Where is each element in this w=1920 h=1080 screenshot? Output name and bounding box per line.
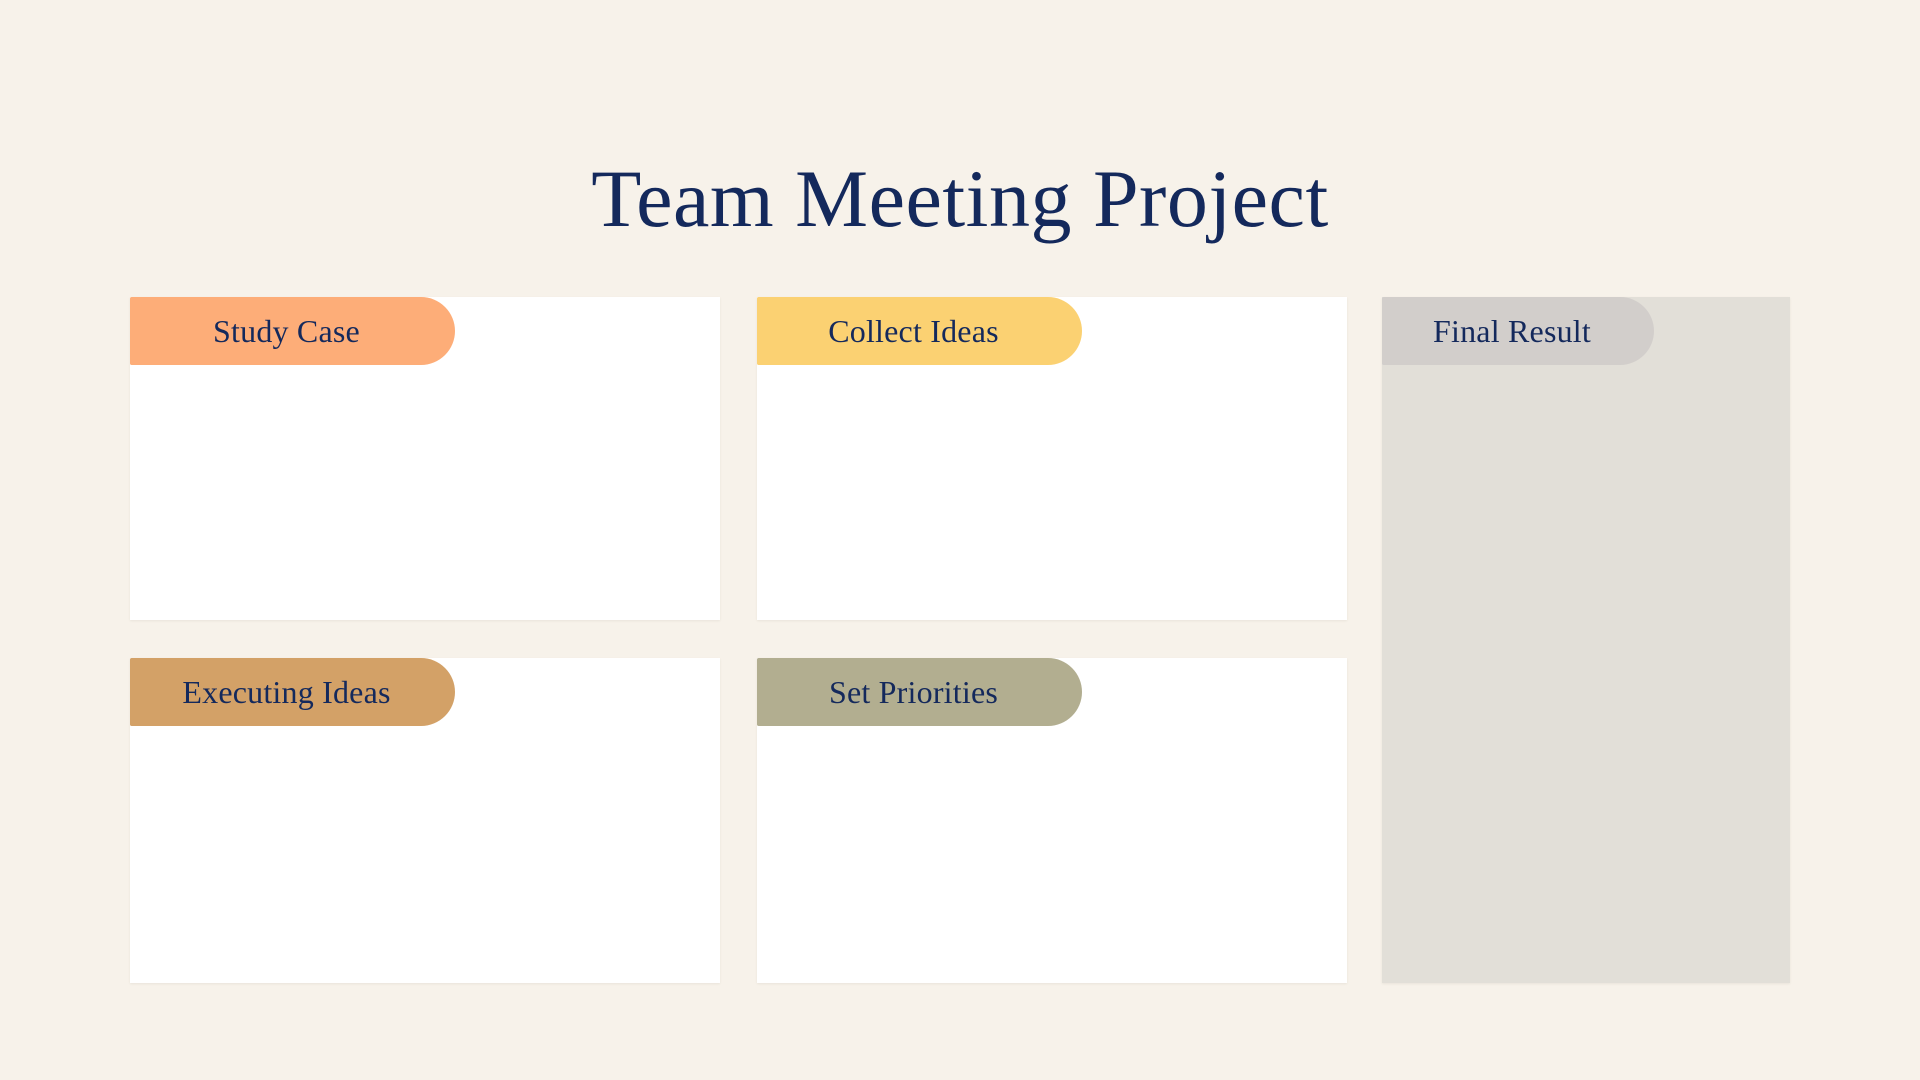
card-header-study-case[interactable]: Study Case [130,297,455,365]
panel-title-final-result: Final Result [1433,314,1591,348]
panel-body-final-result[interactable] [1382,365,1790,983]
presentation-board: Team Meeting Project Study Case Collect … [0,0,1920,1080]
panel-final-result[interactable]: Final Result [1382,297,1790,983]
card-executing-ideas[interactable]: Executing Ideas [130,658,720,983]
card-collect-ideas[interactable]: Collect Ideas [757,297,1347,620]
card-title-study-case: Study Case [213,314,360,348]
card-body-collect-ideas[interactable] [757,365,1347,620]
card-set-priorities[interactable]: Set Priorities [757,658,1347,983]
card-body-study-case[interactable] [130,365,720,620]
cards-grid: Study Case Collect Ideas Executing Ideas [130,297,1347,983]
card-body-set-priorities[interactable] [757,726,1347,983]
card-header-executing-ideas[interactable]: Executing Ideas [130,658,455,726]
card-title-set-priorities: Set Priorities [829,675,998,709]
card-title-collect-ideas: Collect Ideas [828,314,999,348]
page-title: Team Meeting Project [0,151,1920,247]
card-header-set-priorities[interactable]: Set Priorities [757,658,1082,726]
board-columns: Study Case Collect Ideas Executing Ideas [130,297,1790,983]
card-body-executing-ideas[interactable] [130,726,720,983]
card-header-collect-ideas[interactable]: Collect Ideas [757,297,1082,365]
card-study-case[interactable]: Study Case [130,297,720,620]
card-title-executing-ideas: Executing Ideas [182,675,390,709]
panel-header-final-result[interactable]: Final Result [1382,297,1654,365]
